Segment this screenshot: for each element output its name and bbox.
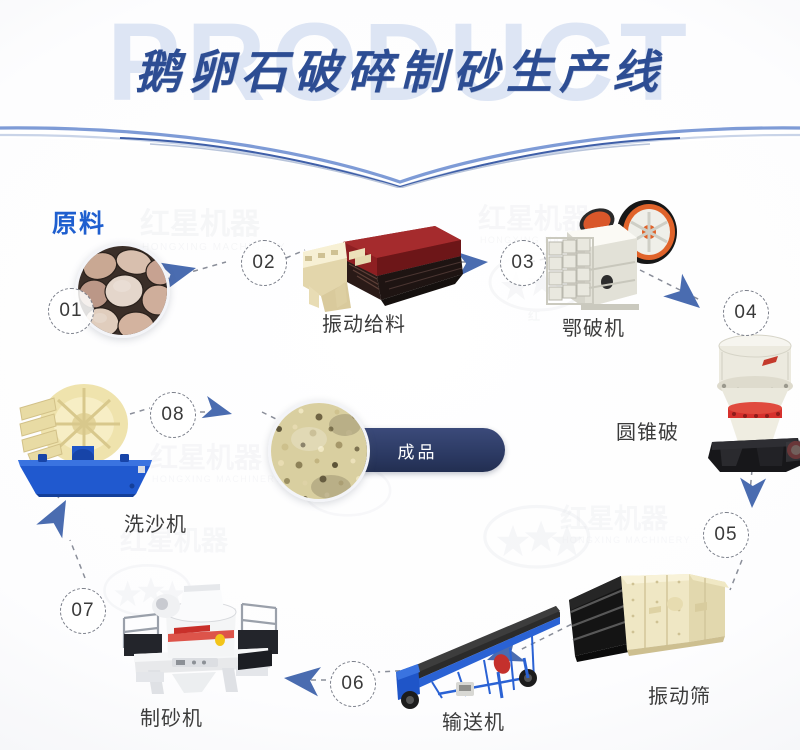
sand-maker-image	[110, 572, 290, 697]
svg-text:红星机器: 红星机器	[150, 441, 263, 473]
product-flowchart-page: PRODUCT 鹅卵石破碎制砂生产线	[0, 0, 800, 750]
step-badge-01-number: 01	[59, 300, 82, 322]
step-badge-06[interactable]: 06	[330, 661, 376, 707]
step-badge-02[interactable]: 02	[241, 240, 287, 286]
vibrating-feeder-label: 振动给料	[322, 308, 406, 337]
step-badge-07[interactable]: 07	[60, 588, 106, 634]
step-badge-06-number: 06	[341, 673, 364, 695]
svg-text:红: 红	[528, 308, 540, 322]
vibrating-screen-image	[565, 560, 745, 670]
step-badge-02-number: 02	[252, 252, 275, 274]
svg-text:红星机器: 红星机器	[560, 503, 669, 534]
jaw-crusher-label: 鄂破机	[562, 312, 625, 341]
sand-washer-image	[10, 382, 160, 497]
sand-washer-label: 洗沙机	[124, 508, 187, 537]
finished-product-label: 成品	[398, 438, 438, 463]
svg-text:红星机器: 红星机器	[140, 208, 261, 241]
step-badge-08-number: 08	[161, 404, 184, 426]
step-badge-07-number: 07	[71, 600, 94, 622]
jaw-crusher-image	[545, 190, 685, 320]
svg-text:HONGXING MACHINERY: HONGXING MACHINERY	[152, 474, 283, 484]
cone-crusher-label: 圆锥破	[616, 416, 679, 445]
page-title: 鹅卵石破碎制砂生产线	[0, 36, 800, 102]
page-header: PRODUCT 鹅卵石破碎制砂生产线	[0, 0, 800, 180]
step-badge-04[interactable]: 04	[723, 290, 769, 336]
conveyor-image	[380, 602, 560, 712]
finished-product-photo	[268, 400, 370, 502]
conveyor-label: 输送机	[442, 706, 505, 735]
step-badge-03[interactable]: 03	[500, 240, 546, 286]
step-badge-08[interactable]: 08	[150, 392, 196, 438]
raw-material-label: 原料	[52, 204, 106, 240]
header-swoosh-divider	[0, 108, 800, 188]
step-badge-03-number: 03	[511, 252, 534, 274]
cone-crusher-image	[700, 330, 800, 480]
vibrating-screen-label: 振动筛	[648, 680, 711, 709]
step-badge-05-number: 05	[714, 524, 737, 546]
step-badge-05[interactable]: 05	[703, 512, 749, 558]
sand-maker-label: 制砂机	[140, 702, 203, 731]
step-badge-04-number: 04	[734, 302, 757, 324]
svg-text:HONGXING MACHINERY: HONGXING MACHINERY	[562, 535, 691, 545]
step-badge-01[interactable]: 01	[48, 288, 94, 334]
vibrating-feeder-image	[285, 212, 465, 317]
